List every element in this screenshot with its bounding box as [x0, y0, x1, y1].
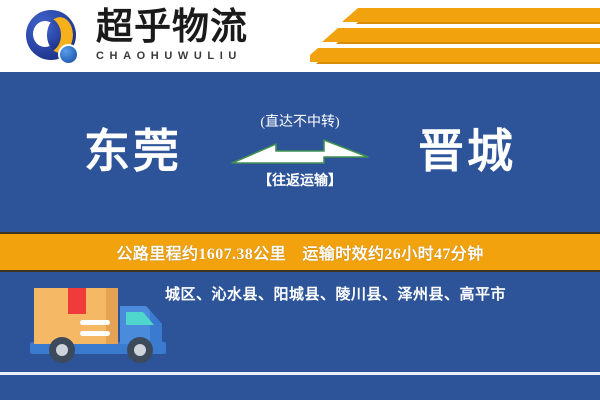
origin-city-label: 东莞 [38, 124, 228, 180]
poster-header: 超乎物流 CHAOHUWULIU [0, 0, 600, 72]
logo-dot-shape [58, 44, 79, 65]
destination-city-label: 晋城 [372, 124, 562, 180]
orange-speed-stripes-icon [310, 8, 600, 66]
brand-block: 超乎物流 CHAOHUWULIU [96, 8, 248, 62]
distance-duration-text: 公路里程约1607.38公里 运输时效约26小时47分钟 [116, 240, 483, 264]
brand-name-cn: 超乎物流 [96, 8, 248, 48]
brand-name-en: CHAOHUWULIU [96, 50, 248, 62]
coverage-districts-text: 城区、沁水县、阳城县、陵川县、泽州县、高平市 [165, 284, 585, 306]
double-headed-arrow-icon [230, 136, 370, 170]
road-line-gap [0, 375, 600, 377]
roundtrip-label: 【往返运输】 [230, 173, 370, 191]
logistics-route-poster: 超乎物流 CHAOHUWULIU 东莞 (直达不中转) 【往返运输】 [0, 0, 600, 400]
route-content: 东莞 (直达不中转) 【往返运输】 晋城 [0, 72, 600, 232]
delivery-truck-icon [22, 280, 182, 372]
chaohu-logistics-logo-icon [26, 10, 84, 68]
coverage-panel: 城区、沁水县、阳城县、陵川县、泽州县、高平市 [0, 272, 600, 400]
route-middle-column: (直达不中转) 【往返运输】 [230, 114, 370, 191]
route-panel: 东莞 (直达不中转) 【往返运输】 晋城 [0, 72, 600, 232]
distance-duration-band: 公路里程约1607.38公里 运输时效约26小时47分钟 [0, 232, 600, 272]
direct-service-label: (直达不中转) [230, 114, 370, 132]
